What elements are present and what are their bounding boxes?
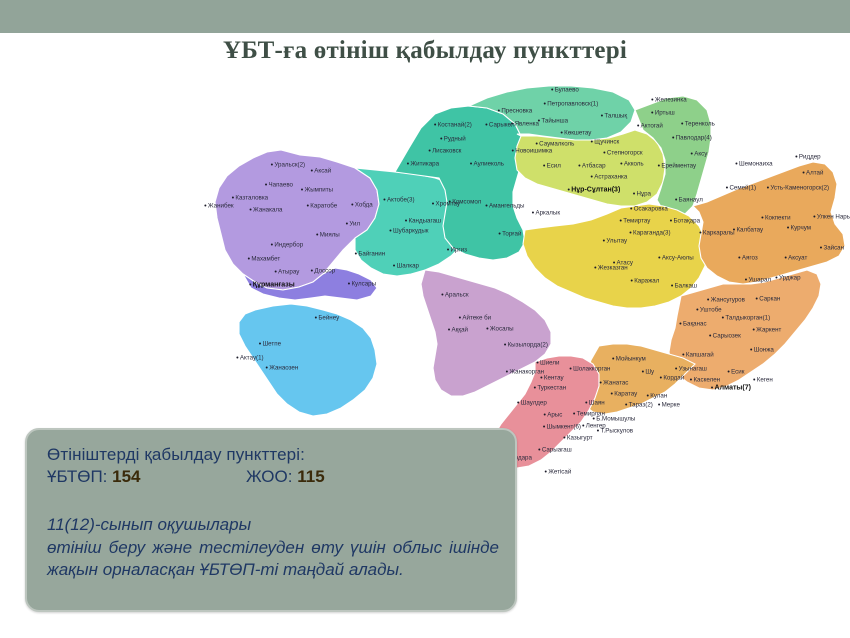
top-band (0, 0, 850, 33)
page-title: ҰБТ-ға өтініш қабылдау пункттері (0, 37, 850, 65)
stat2-label: ЖОО: (246, 467, 293, 486)
region-almaty (669, 270, 821, 390)
region-aqmola (515, 130, 665, 206)
slide-root: ҰБТ-ға өтініш қабылдау пункттері (0, 0, 850, 638)
info-stats-row: ҰБТӨП: 154 ЖОО: 115 (47, 466, 515, 487)
region-qyzylorda (421, 270, 551, 396)
info-callout-box: Өтініштерді қабылдау пункттері: ҰБТӨП: 1… (25, 428, 517, 612)
info-body-line2: өтініш беру және тестілеуден өту үшін об… (47, 537, 499, 582)
region-batys-qazaqstan (215, 150, 379, 290)
stat1-value: 154 (112, 467, 140, 486)
region-shygys-qazaqstan (693, 162, 845, 284)
info-body: 11(12)-сынып оқушылары өтініш беру және … (47, 514, 515, 582)
info-heading: Өтініштерді қабылдау пункттері: (47, 444, 515, 465)
region-mangystau (239, 304, 377, 416)
stat1-label: ҰБТӨП: (47, 467, 107, 486)
info-body-line1: 11(12)-сынып оқушылары (47, 514, 515, 536)
region-qaragandy (523, 204, 707, 308)
stat2-value: 115 (297, 467, 324, 486)
